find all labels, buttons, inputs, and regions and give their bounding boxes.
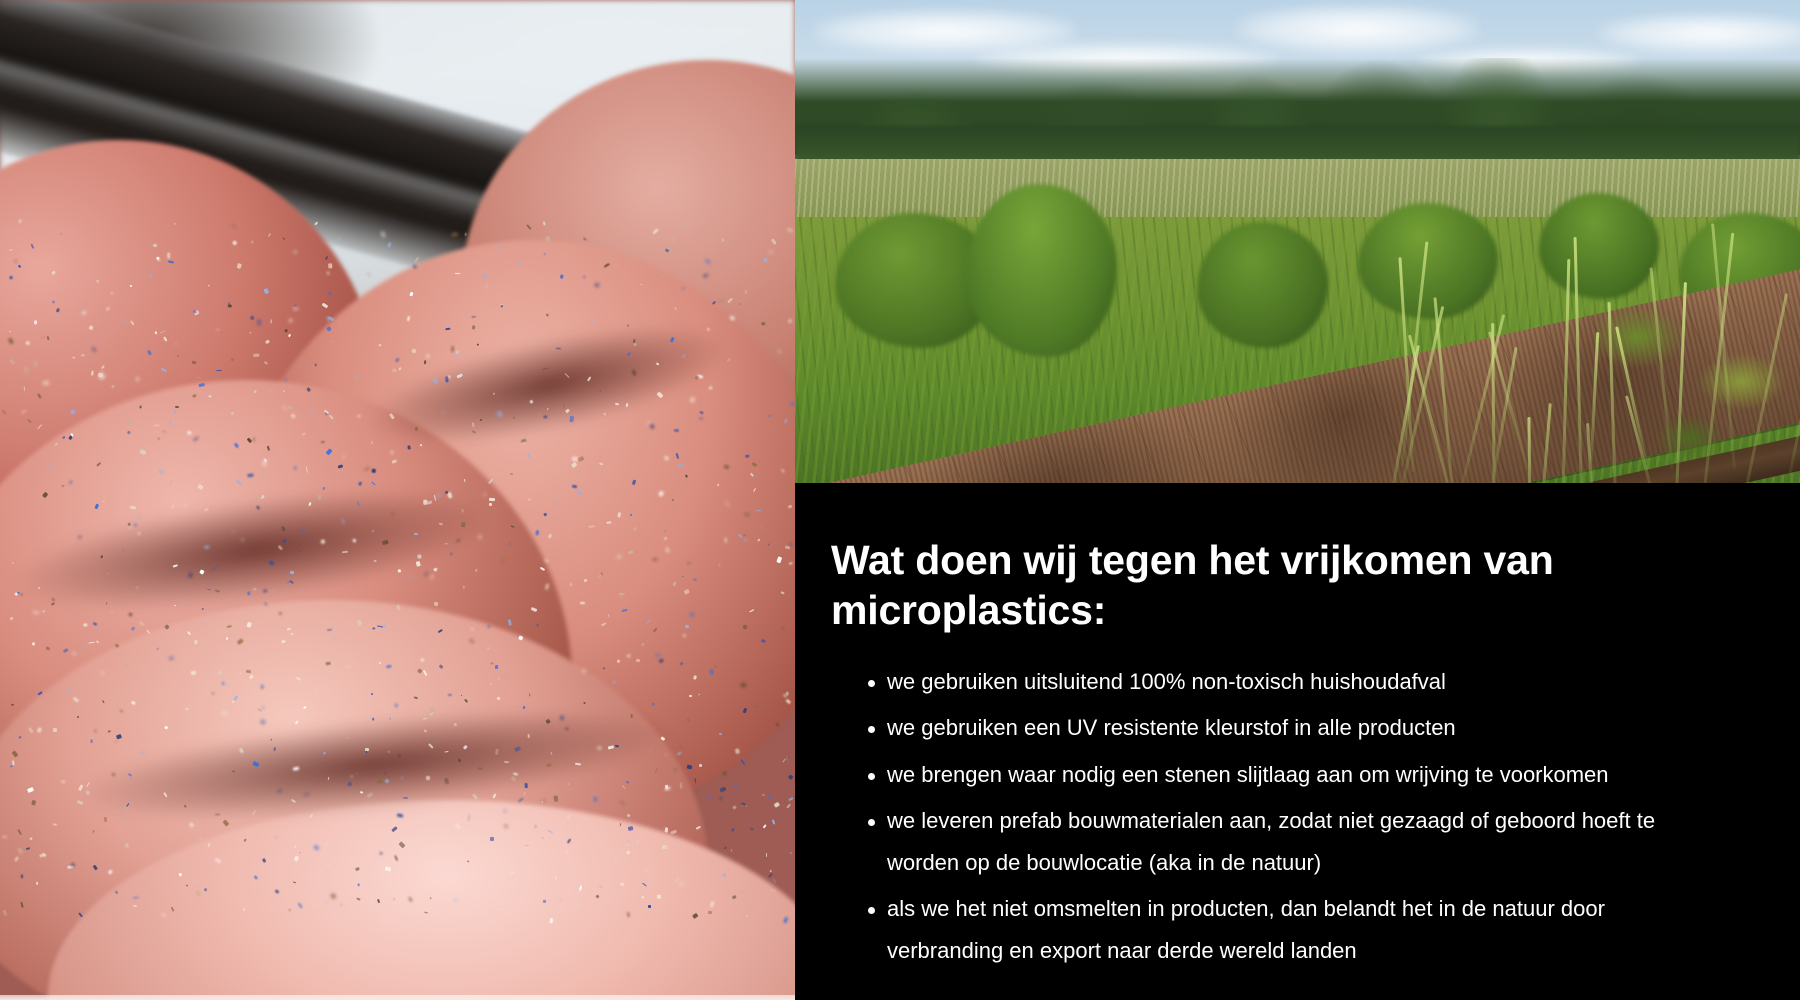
plastic-flake	[596, 894, 600, 898]
plastic-flake	[371, 441, 373, 444]
plastic-flake	[199, 837, 201, 841]
plastic-flake	[46, 336, 49, 341]
plastic-flake	[357, 620, 363, 626]
plastic-flake	[264, 288, 269, 294]
plastic-flake	[95, 729, 97, 733]
plastic-flake	[789, 852, 792, 854]
plastic-flake	[108, 870, 112, 874]
plastic-flake	[34, 361, 38, 366]
plastic-flake	[398, 569, 401, 573]
plastic-flake	[564, 373, 569, 378]
plastic-flake	[543, 899, 546, 902]
plastic-flake	[389, 413, 395, 420]
plastic-flake	[633, 526, 637, 530]
text-panel: Wat doen wij tegen het vrijkomen van mic…	[795, 483, 1800, 1000]
plastic-flake	[423, 670, 428, 676]
plastic-flake	[683, 589, 689, 595]
plastic-flake	[42, 382, 48, 385]
plastic-flake	[14, 856, 19, 862]
plastic-flake	[725, 501, 730, 506]
plastic-flake	[175, 406, 179, 409]
plastic-flake	[191, 361, 196, 365]
plastic-flake	[710, 901, 715, 908]
plastic-flake	[59, 314, 62, 316]
plastic-flake	[249, 315, 255, 320]
plastic-flake	[10, 617, 15, 622]
plastic-flake	[565, 851, 568, 854]
plastic-flake	[356, 898, 360, 901]
plastic-flake	[264, 602, 267, 606]
plastic-flake	[318, 495, 321, 500]
plastic-flake	[788, 504, 793, 508]
plastic-flake	[672, 499, 674, 501]
plastic-flake	[62, 648, 68, 653]
plastic-flake	[560, 275, 564, 279]
plastic-flake	[557, 499, 560, 503]
plastic-flake	[372, 469, 376, 473]
plastic-flake	[389, 717, 391, 719]
plastic-flake	[788, 756, 790, 759]
plastic-flake	[430, 575, 434, 580]
plastic-flake	[394, 855, 399, 862]
plastic-flake	[322, 487, 325, 490]
plastic-flake	[282, 405, 287, 410]
plastic-flake	[735, 749, 740, 754]
plastic-flake	[27, 418, 32, 423]
plastic-flake	[567, 530, 570, 533]
plastic-flake	[461, 695, 463, 697]
plastic-flake	[641, 643, 645, 647]
plastic-flake	[105, 454, 108, 457]
plastic-flake	[670, 336, 675, 342]
plastic-flake	[104, 817, 108, 822]
plastic-flake	[583, 237, 587, 241]
plastic-flake	[161, 913, 167, 917]
plastic-flake	[575, 902, 578, 905]
plastic-flake	[432, 378, 438, 384]
plastic-flake	[682, 634, 685, 637]
plastic-flake	[247, 621, 252, 627]
plastic-flake	[284, 378, 287, 381]
plastic-flake	[677, 751, 682, 756]
plastic-flake	[38, 393, 42, 398]
plastic-flake	[453, 723, 457, 727]
plastic-flake	[500, 908, 503, 911]
plastic-flake	[216, 329, 220, 331]
plastic-flake	[524, 783, 527, 788]
plastic-flake	[708, 386, 713, 391]
plastic-flake	[489, 478, 494, 484]
plastic-flake	[583, 275, 586, 278]
plastic-flake	[627, 850, 631, 854]
plastic-flake	[709, 669, 713, 675]
plastic-flake	[17, 848, 22, 855]
plastic-flake	[18, 828, 22, 834]
plastic-flake	[690, 612, 695, 618]
plastic-flake	[287, 627, 291, 630]
plastic-flake	[727, 358, 731, 362]
plastic-flake	[384, 866, 391, 871]
plastic-flake	[350, 775, 353, 778]
plastic-flake	[763, 824, 767, 828]
plastic-flake	[338, 238, 340, 240]
plastic-flake	[237, 263, 242, 269]
plastic-flake	[527, 224, 532, 230]
plastic-flake	[341, 518, 345, 524]
plastic-flake	[452, 346, 454, 352]
plastic-flake	[299, 551, 301, 553]
plastic-flake	[528, 734, 530, 738]
plastic-flake	[419, 444, 422, 447]
plastic-flake	[116, 734, 121, 739]
plastic-flake	[115, 644, 120, 648]
plastic-flake	[355, 867, 360, 871]
plastic-flake	[408, 445, 412, 450]
plastic-flake	[327, 628, 332, 630]
plastic-flake	[233, 443, 238, 449]
plastic-flake	[261, 470, 265, 474]
plastic-flake	[509, 543, 511, 546]
plastic-flake	[373, 717, 375, 720]
plastic-flake	[8, 337, 14, 344]
plastic-flake	[79, 912, 84, 917]
plastic-flake	[528, 807, 530, 810]
plastic-flake	[707, 794, 711, 800]
plastic-flake	[51, 270, 56, 275]
plastic-flake	[653, 558, 658, 562]
plastic-flake	[112, 773, 116, 777]
plastic-flake	[674, 767, 676, 772]
plastic-flake	[412, 349, 417, 353]
plastic-flake	[781, 591, 785, 594]
plastic-flake	[326, 326, 331, 331]
plastic-flake	[750, 472, 754, 476]
plastic-flake	[396, 604, 400, 610]
plastic-flake	[764, 257, 768, 262]
plastic-flake	[66, 688, 70, 692]
plastic-flake	[301, 530, 304, 533]
plastic-flake	[513, 416, 514, 418]
plastic-flake	[547, 764, 552, 767]
plastic-flake	[466, 233, 467, 236]
plastic-flake	[450, 552, 453, 555]
plastic-flake	[742, 708, 747, 714]
plastic-flake	[455, 822, 461, 829]
plastic-flake	[298, 852, 300, 854]
plastic-flake	[288, 405, 293, 410]
plastic-flake	[357, 415, 361, 417]
plastic-flake	[322, 303, 329, 309]
plastic-flake	[447, 375, 451, 378]
plastic-flake	[563, 478, 565, 480]
plastic-flake	[739, 303, 741, 305]
plastic-flake	[228, 304, 233, 308]
plastic-flake	[390, 451, 395, 455]
plastic-flake	[508, 619, 512, 625]
plastic-flake	[399, 842, 406, 849]
plastic-flake	[472, 793, 478, 799]
plastic-flake	[420, 849, 425, 853]
plastic-flake	[306, 467, 308, 473]
plastic-flake	[514, 746, 521, 752]
plastic-flake	[21, 410, 26, 414]
plastic-flake	[256, 505, 261, 510]
plastic-flake	[483, 273, 487, 278]
plastic-flake	[718, 563, 721, 567]
plastic-flake	[128, 526, 131, 530]
plastic-flake	[536, 623, 538, 626]
plastic-flake	[208, 395, 211, 397]
right-column: Wat doen wij tegen het vrijkomen van mic…	[795, 0, 1800, 1000]
plastic-flake	[544, 415, 548, 418]
plastic-flake	[381, 780, 383, 783]
list-item: we brengen waar nodig een stenen slijtla…	[831, 754, 1711, 796]
plastic-flake	[174, 223, 176, 225]
plastic-flake	[268, 560, 274, 565]
plastic-flake	[385, 779, 390, 784]
plastic-flake	[380, 852, 383, 855]
plastic-flake	[631, 370, 636, 376]
plastic-flake	[787, 227, 794, 233]
plastic-flake	[665, 531, 666, 533]
plastic-flake	[19, 736, 22, 739]
plastic-flake	[426, 501, 433, 505]
plastic-flake	[293, 766, 300, 770]
plastic-flake	[169, 657, 174, 660]
plastic-flake	[34, 320, 37, 324]
plastic-flake	[693, 578, 697, 580]
plastic-flake	[193, 436, 199, 441]
plastic-flake	[527, 454, 531, 459]
plastic-flake	[131, 626, 136, 631]
plastic-flake	[390, 512, 394, 518]
plastic-flake	[439, 522, 443, 525]
plastic-flake	[23, 366, 28, 373]
plastic-flake	[675, 453, 679, 460]
plastic-flake	[627, 654, 631, 658]
plastic-flake	[115, 741, 118, 743]
plastic-flake	[192, 394, 197, 398]
plastic-flake	[467, 860, 470, 862]
plastic-flake	[620, 882, 625, 886]
plastic-flake	[286, 774, 292, 776]
plastic-flake	[321, 441, 325, 444]
plastic-flake	[2, 909, 7, 915]
plastic-flake	[101, 671, 104, 675]
plastic-flake	[749, 609, 754, 613]
plastic-flake	[10, 765, 13, 767]
plastic-flake	[784, 545, 790, 549]
plastic-flake	[679, 883, 684, 886]
plastic-flake	[480, 418, 483, 420]
plastic-flake	[358, 481, 363, 486]
plastic-flake	[550, 752, 552, 755]
plastic-flake	[273, 747, 275, 751]
plastic-flake	[635, 840, 639, 845]
plastic-flake	[38, 425, 43, 430]
plastic-flake	[249, 674, 254, 679]
plastic-flake	[501, 558, 506, 564]
plastic-flake	[749, 828, 753, 831]
plastic-flake	[346, 665, 352, 667]
plastic-flake	[627, 843, 629, 846]
plastic-flake	[101, 365, 105, 369]
plastic-flake	[545, 583, 550, 590]
plastic-flake	[130, 320, 134, 325]
plastic-flake	[92, 830, 95, 833]
plastic-flake	[757, 538, 761, 542]
plastic-flake	[84, 623, 88, 626]
plastic-flake	[110, 292, 113, 294]
plastic-flake	[297, 902, 303, 909]
plastic-flake	[179, 872, 183, 876]
plastic-flake	[786, 803, 791, 808]
plastic-flake	[198, 383, 204, 387]
plastic-flake	[222, 681, 225, 685]
plastic-flake	[595, 283, 599, 287]
plastic-flake	[127, 419, 132, 424]
plastic-flake	[183, 805, 187, 809]
plastic-flake	[31, 642, 35, 646]
plastic-flake	[491, 662, 494, 665]
plastic-flake	[332, 717, 335, 720]
plastic-flake	[160, 330, 166, 333]
plastic-flake	[43, 492, 49, 498]
plastic-flake	[511, 776, 517, 782]
plastic-flake	[262, 590, 267, 594]
plastic-flake	[364, 748, 368, 751]
plastic-flake	[139, 406, 141, 409]
plastic-flake	[420, 657, 425, 662]
plastic-flake	[518, 262, 522, 264]
list-item: we gebruiken een UV resistente kleurstof…	[831, 707, 1711, 749]
plastic-flake	[775, 722, 780, 727]
plastic-flake	[275, 889, 280, 894]
plastic-flake	[699, 417, 703, 419]
plastic-flake	[626, 352, 630, 356]
plastic-flake	[773, 801, 780, 807]
plastic-flake	[426, 775, 430, 779]
plastic-flake	[722, 239, 725, 242]
plastic-flake	[294, 466, 297, 470]
plastic-flake	[650, 751, 652, 753]
plastic-flake	[584, 579, 587, 582]
plastic-flake	[282, 237, 285, 240]
plastic-flake	[293, 881, 297, 883]
plastic-flake	[129, 285, 132, 288]
plastic-flake	[367, 273, 370, 276]
plastic-flake	[239, 747, 244, 753]
plastic-flake	[196, 890, 202, 897]
plastic-flake	[560, 898, 563, 901]
plastic-flake	[306, 388, 311, 393]
plastic-flake	[622, 608, 628, 612]
plastic-flake	[510, 525, 514, 528]
plastic-flake	[81, 310, 87, 316]
plastic-flake	[626, 780, 630, 784]
plastic-flake	[645, 868, 649, 872]
plastic-flake	[90, 736, 93, 739]
plastic-flake	[546, 719, 552, 724]
image-bottom-rim	[0, 995, 795, 1000]
plastic-flake	[80, 353, 84, 356]
plastic-flake	[203, 546, 208, 549]
plastic-flake	[291, 414, 296, 418]
plastic-flake	[31, 800, 36, 806]
plastic-flake	[720, 797, 723, 800]
plastic-flake	[377, 899, 380, 903]
plastic-flake	[33, 610, 40, 614]
plastic-flake	[163, 337, 167, 342]
plastic-flake	[749, 904, 751, 907]
plastic-flake	[174, 343, 176, 345]
plastic-flake	[328, 777, 330, 780]
plastic-flake	[201, 608, 203, 610]
plastic-flake	[546, 314, 549, 317]
plastic-flake	[641, 284, 643, 286]
plastic-flake	[93, 865, 98, 870]
plastic-flake	[529, 399, 533, 403]
plastic-flake	[733, 806, 737, 810]
plastic-flake	[49, 467, 53, 469]
plastic-flake	[270, 739, 272, 741]
plastic-flake	[96, 627, 101, 629]
plastic-flake	[355, 772, 359, 775]
plastic-flake	[768, 544, 769, 546]
plastic-flake	[294, 845, 297, 848]
plastic-flake	[293, 251, 297, 255]
plastic-flake	[511, 871, 515, 874]
plastic-flake	[693, 913, 699, 919]
plastic-flake	[217, 670, 222, 676]
plastic-flake	[12, 750, 19, 757]
plastic-flake	[630, 514, 632, 516]
plastic-flake	[254, 875, 258, 880]
plastic-flake	[208, 285, 210, 287]
plastic-flake	[188, 431, 192, 434]
plastic-flake	[185, 504, 187, 507]
plastic-flake	[100, 555, 103, 559]
plastic-flake	[657, 391, 664, 398]
plastic-flake	[302, 432, 306, 436]
plastic-flake	[195, 640, 198, 644]
plastic-flake	[68, 435, 72, 440]
plastic-flake	[20, 875, 22, 879]
plastic-flake	[396, 753, 400, 758]
plastic-flake	[314, 221, 318, 225]
plastic-flake	[296, 680, 301, 685]
plastic-flake	[707, 327, 710, 330]
plastic-flake	[489, 837, 493, 841]
plastic-flake	[342, 551, 348, 554]
plastic-flake	[606, 522, 612, 524]
plastic-flake	[487, 625, 490, 628]
plastic-flake	[472, 316, 476, 318]
plastic-flake	[423, 717, 427, 719]
plastic-flake	[695, 778, 697, 783]
plastic-flake	[416, 561, 421, 567]
plastic-flake	[659, 491, 664, 497]
plastic-flake	[269, 588, 275, 592]
plastic-flake	[371, 481, 375, 485]
plastic-flake	[718, 484, 720, 486]
plastic-flake	[252, 810, 256, 816]
plastic-flake	[768, 872, 773, 877]
plastic-flake	[42, 610, 45, 613]
plastic-flake	[518, 797, 524, 802]
plastic-flake	[331, 340, 334, 341]
plastic-flake	[233, 240, 238, 245]
